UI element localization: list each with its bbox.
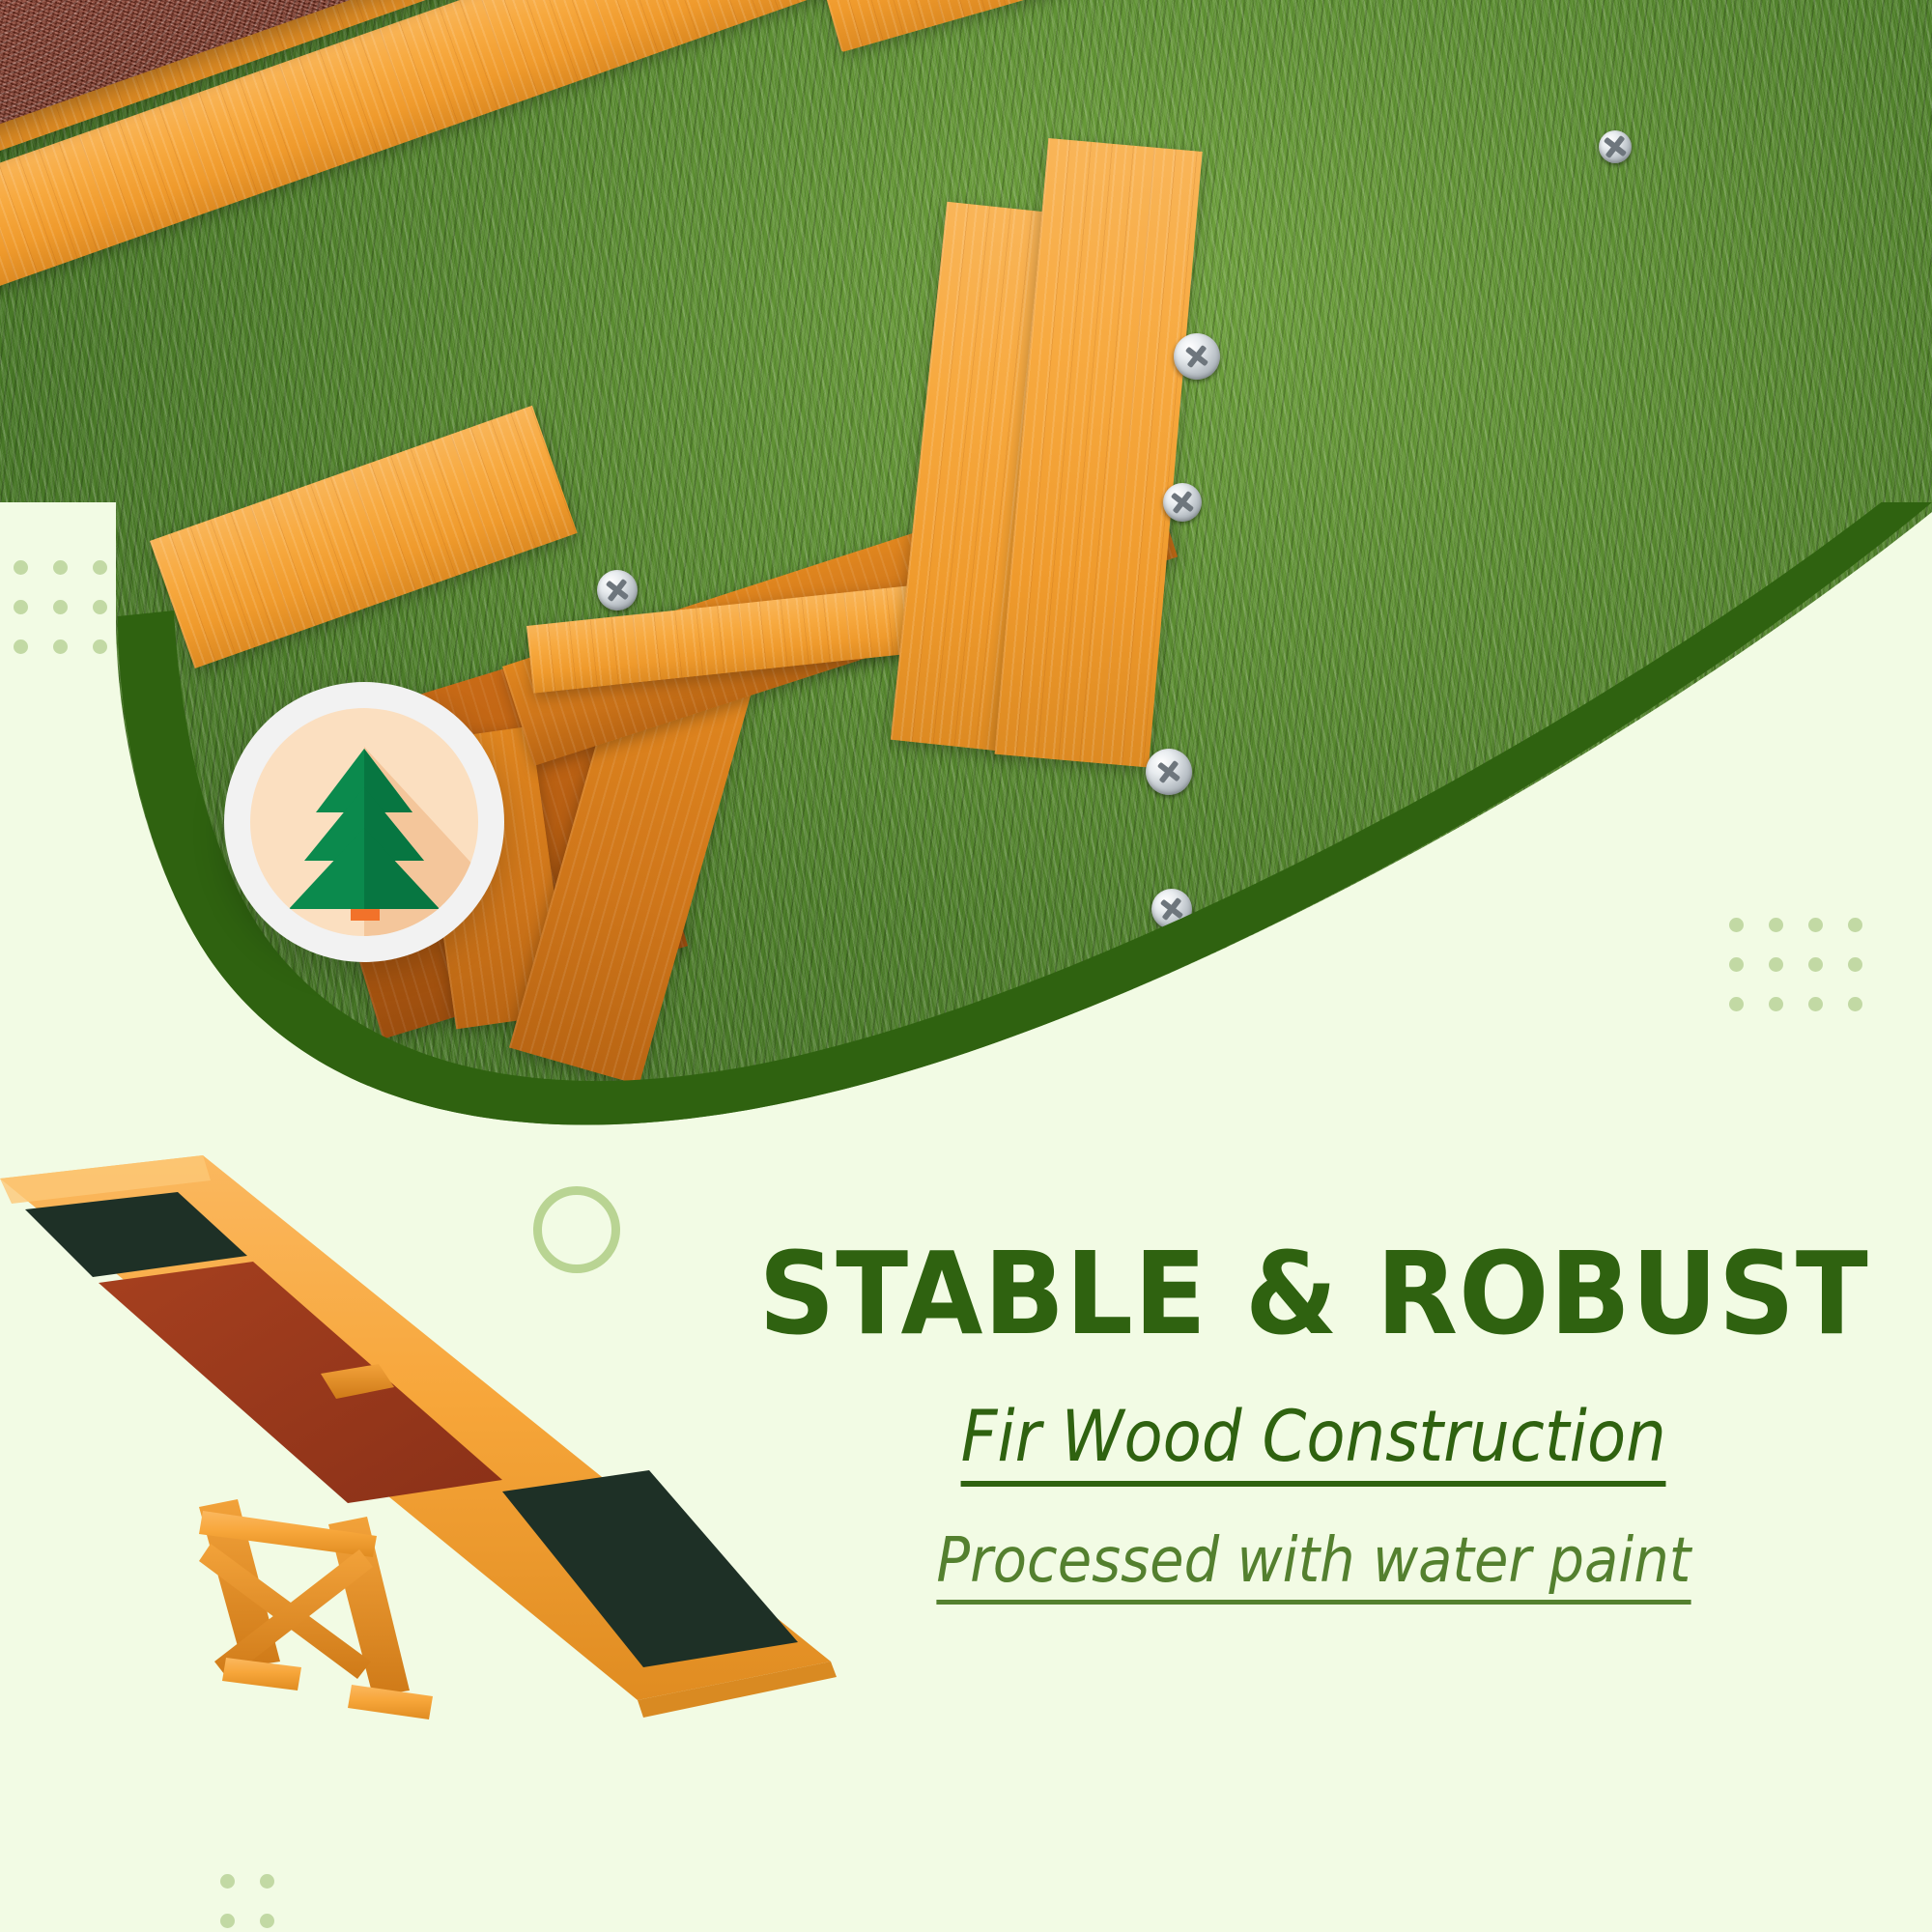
screw-icon <box>1151 889 1192 929</box>
screw-icon <box>1174 333 1220 380</box>
dots-left <box>14 560 107 654</box>
screw-icon <box>1163 483 1202 522</box>
feature-item-water-paint: Processed with water paint <box>937 1529 1691 1605</box>
feature-row-2: Processed with water paint <box>715 1496 1913 1605</box>
badge-inner-disc <box>250 708 478 936</box>
screw-icon <box>597 570 638 611</box>
hero-photo <box>0 0 1932 1140</box>
ramp-support-frame <box>199 1499 433 1719</box>
feature-text-block: STABLE & ROBUST Fir Wood Construction Pr… <box>715 1236 1913 1605</box>
screw-icon <box>1146 749 1192 795</box>
feature-item-fir-wood: Fir Wood Construction <box>961 1401 1666 1487</box>
fir-wood-badge <box>224 682 504 962</box>
banner-canvas: STABLE & ROBUST Fir Wood Construction Pr… <box>0 0 1932 1932</box>
screw-icon <box>1599 130 1632 163</box>
dots-right <box>1729 918 1862 1011</box>
ramp-board <box>0 1155 831 1700</box>
page-title: STABLE & ROBUST <box>756 1236 1870 1350</box>
feature-row-1: Fir Wood Construction <box>715 1401 1913 1496</box>
fir-tree-icon <box>250 708 478 936</box>
